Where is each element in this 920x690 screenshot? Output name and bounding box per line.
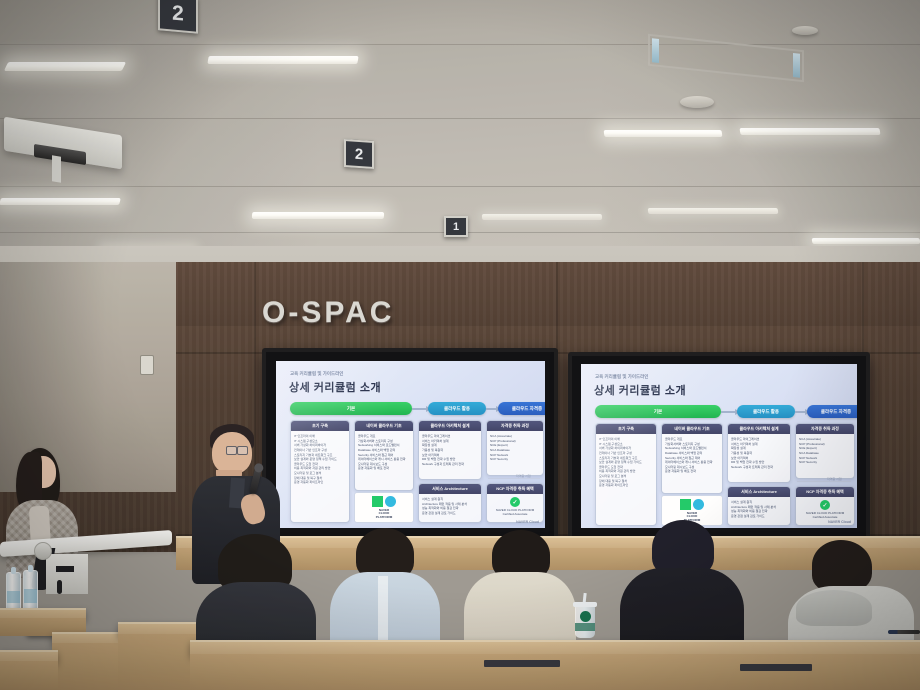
column-card-4-header: 자격증 취득 과정 (796, 424, 854, 434)
display-screen-right: 교육 커리큘럼 및 가이드라인 상세 커리큘럼 소개 기본 클라우드 활용 클라… (568, 352, 870, 544)
pill-cloud-usage: 클라우드 활용 (737, 405, 795, 418)
presentation-slide-left: 교육 커리큘럼 및 가이드라인 상세 커리큘럼 소개 기본 클라우드 활용 클라… (276, 361, 545, 528)
pill-connector (412, 408, 428, 410)
shirt-crease (378, 576, 388, 646)
bottle-label (24, 589, 37, 602)
pill-cloud-usage: 클라우드 활용 (428, 402, 486, 415)
ceiling-lamp (812, 238, 920, 244)
ceiling-lamp (4, 62, 126, 71)
slide-eyebrow: 교육 커리큘럼 및 가이드라인 (290, 371, 343, 377)
ceiling-sign-label: 2 (172, 1, 184, 26)
bullet: Network 구성과 트래픽 관리 전략 (422, 462, 478, 467)
slide-footer: NAVER Cloud (516, 520, 539, 524)
pill-certification: 클라우드 자격증 (807, 405, 857, 418)
logo-marks (372, 496, 396, 507)
cert-line-2: Certified Associate (496, 513, 534, 517)
ceiling-lamp (648, 208, 779, 214)
service-architecture-body: 서비스 설계 원칙 Architecture 패턴 적용 및 사례 분석 성능 … (419, 495, 481, 522)
bullet: Network 구성과 트래픽 관리 전략 (731, 465, 787, 470)
iced-coffee-cup[interactable] (575, 606, 595, 638)
ceiling-sign-2a: 2 (158, 0, 198, 34)
column-card-4-header: 자격증 취득 과정 (487, 421, 543, 431)
certification-benefit-header: NCP 자격증 취득 혜택 (487, 484, 543, 494)
lecture-hall-photo: 2 2 1 O-SPAC 교육 커리큘럼 및 가이드라인 상세 커리큘럼 소개 … (0, 0, 920, 690)
pill-connector (795, 411, 807, 413)
column-card-1-body: IT 인프라의 이해 IT 시스템 구성요소 서버 가상화 하이퍼바이저 컨테이… (291, 432, 349, 522)
logo-square-icon (680, 499, 691, 510)
projector-mount (52, 155, 61, 182)
ceiling-sign-label: 1 (453, 221, 459, 233)
column-card-3-header: 클라우드 아키텍처 설계 (419, 421, 481, 431)
ceiling-projector (4, 126, 134, 196)
column-card-2: 네이버 클라우드 기초 클라우드 개요 가상화서버와 스토리지 구성 Netwo… (354, 420, 414, 491)
ceiling-sign-2b: 2 (344, 139, 374, 169)
lectern-body (46, 554, 88, 594)
column-card-4-body: NCA (Associate) NCP (Professional) NCE (… (796, 435, 854, 478)
pill-connector (721, 411, 737, 413)
hair (812, 540, 872, 592)
ceiling-lamp (0, 198, 121, 205)
lectern-panel (56, 566, 74, 572)
pill-basic: 기본 (595, 405, 721, 418)
slide-divider (797, 481, 851, 482)
logo-square-icon (372, 496, 383, 507)
slide-note: 자격증 시험 (827, 477, 842, 481)
hoodie-hood (796, 590, 872, 626)
smoke-detector (792, 26, 818, 35)
logo-marks (680, 499, 704, 510)
eyeglasses-icon (226, 446, 254, 455)
column-card-3-body: 클라우드 마이그레이션 서비스 아키텍처 설계 확장성 설계 가용성 및 복원력… (419, 432, 481, 479)
slide-title: 상세 커리큘럼 소개 (289, 379, 381, 395)
column-card-2: 네이버 클라우드 기초 클라우드 개요 가상화서버와 스토리지 구성 Netwo… (661, 423, 723, 494)
cup-logo-icon (580, 611, 591, 622)
bullet: 운영 관점 설계 검토 가이드 (422, 511, 478, 516)
pill-basic: 기본 (290, 402, 412, 415)
slide-footer: NAVER Cloud (828, 520, 851, 524)
logo-circle-icon (385, 496, 396, 507)
ceiling-seam (0, 186, 920, 187)
column-card-1-body: IT 인프라의 이해 IT 시스템 구성요소 서버 가상화 하이퍼바이저 컨테이… (596, 435, 656, 525)
marker-pen[interactable] (888, 630, 920, 634)
desk-slot (484, 660, 560, 667)
bottle-label (7, 591, 20, 604)
column-card-3-header: 클라우드 아키텍처 설계 (728, 424, 790, 434)
bullet: 운영 자동화 파이프라인 (599, 483, 653, 488)
column-card-2-body: 클라우드 개요 가상화서버와 스토리지 구성 Networking 서비스와 로… (355, 432, 413, 490)
ceiling-lamp (252, 212, 384, 219)
ceiling-lamp (482, 214, 602, 220)
ceiling-seam (0, 44, 920, 45)
column-card-2-body: 클라우드 개요 가상화서버와 스토리지 구성 Networking 서비스와 로… (662, 435, 722, 493)
certification-benefit-card: NCP 자격증 취득 혜택 ✓ NAVER CLOUD PLATFORM Cer… (486, 483, 544, 523)
column-card-1-header: 초기 구축 (291, 421, 349, 431)
logo-circle-icon (693, 499, 704, 510)
lectern-knob (34, 542, 52, 560)
bullet: 운영 자동화 및 배포 전략 (358, 466, 410, 471)
column-card-3: 클라우드 아키텍처 설계 클라우드 마이그레이션 서비스 아키텍처 설계 확장성… (727, 423, 791, 483)
certification-benefit-header: NCP 자격증 취득 혜택 (796, 487, 854, 497)
ceiling-lamp (739, 128, 880, 135)
ceiling-lamp (604, 130, 723, 137)
column-card-4: 자격증 취득 과정 NCA (Associate) NCP (Professio… (486, 420, 544, 476)
pill-certification: 클라우드 자격증 (498, 402, 545, 415)
smoke-detector (680, 96, 714, 108)
pill-connector (486, 408, 498, 410)
display-screen-left: 교육 커리큘럼 및 가이드라인 상세 커리큘럼 소개 기본 클라우드 활용 클라… (262, 348, 558, 542)
bullet: NCP Security (490, 457, 540, 462)
column-card-1: 초기 구축 IT 인프라의 이해 IT 시스템 구성요소 서버 가상화 하이퍼바… (595, 423, 657, 526)
column-card-4: 자격증 취득 과정 NCA (Associate) NCP (Professio… (795, 423, 855, 479)
cup-body (575, 606, 595, 638)
column-card-1-header: 초기 구축 (596, 424, 656, 434)
cup-band (575, 623, 595, 631)
naver-cloud-platform-logo: NAVER CLOUD PLATFORM (354, 492, 414, 523)
logo-line-3: PLATFORM (376, 516, 392, 519)
bullet: 운영 자동화 및 배포 전략 (665, 469, 719, 474)
bullet: 운영 관점 설계 검토 가이드 (731, 514, 787, 519)
ceiling (0, 0, 920, 250)
column-card-3: 클라우드 아키텍처 설계 클라우드 마이그레이션 서비스 아키텍처 설계 확장성… (418, 420, 482, 480)
presentation-slide-right: 교육 커리큘럼 및 가이드라인 상세 커리큘럼 소개 기본 클라우드 활용 클라… (581, 364, 857, 528)
column-card-2-header: 네이버 클라우드 기초 (355, 421, 413, 431)
slide-divider (488, 478, 540, 479)
service-architecture-header: 서비스 Architecture (419, 484, 481, 494)
lectern-top (0, 530, 172, 557)
column-card-3-body: 클라우드 마이그레이션 서비스 아키텍처 설계 확장성 설계 가용성 및 복원력… (728, 435, 790, 482)
desk-left-4-front (118, 634, 198, 690)
slide-eyebrow: 교육 커리큘럼 및 가이드라인 (595, 374, 648, 380)
ceiling-lamp (207, 56, 358, 64)
slide-note: 자격증 시험 (516, 474, 531, 478)
desk-left-3-front (0, 661, 58, 690)
check-circle-icon: ✓ (510, 497, 520, 507)
column-card-2-header: 네이버 클라우드 기초 (662, 424, 722, 434)
ceiling-seam (0, 118, 920, 119)
service-architecture-card: 서비스 Architecture 서비스 설계 원칙 Architecture … (418, 483, 482, 523)
column-card-4-body: NCA (Associate) NCP (Professional) NCE (… (487, 432, 543, 475)
column-card-1: 초기 구축 IT 인프라의 이해 IT 시스템 구성요소 서버 가상화 하이퍼바… (290, 420, 350, 523)
service-architecture-header: 서비스 Architecture (728, 487, 790, 497)
wall-switch[interactable] (140, 355, 154, 375)
slide-title: 상세 커리큘럼 소개 (594, 382, 686, 398)
venue-sign: O-SPAC (262, 296, 394, 330)
cup-lid (573, 602, 597, 607)
lectern-mic-stand (57, 580, 62, 594)
ceiling-sign-label: 2 (355, 145, 363, 163)
desk-slot (740, 664, 812, 671)
bullet: 운영 자동화 파이프라인 (294, 480, 346, 485)
check-circle-icon: ✓ (820, 500, 830, 510)
bullet: NCP Security (799, 460, 851, 465)
ceiling-sign-1: 1 (444, 216, 468, 237)
